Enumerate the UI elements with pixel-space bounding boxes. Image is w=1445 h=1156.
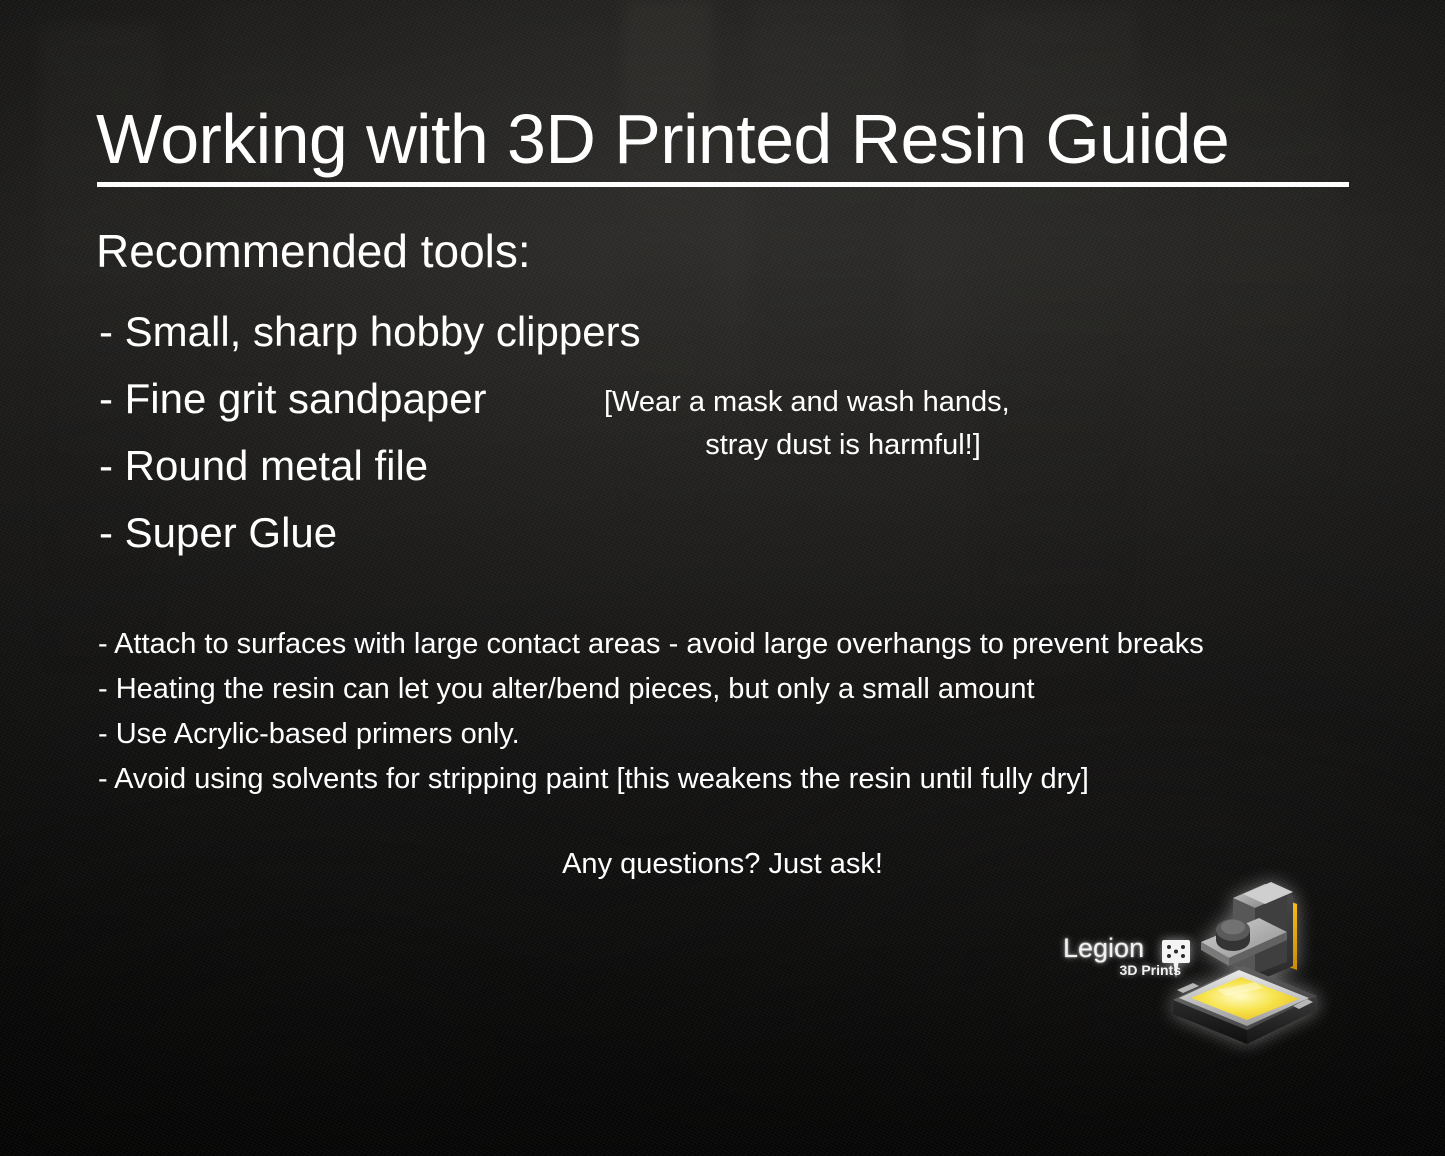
legion-3d-prints-logo: Legion 3D Prints [1055, 878, 1345, 1048]
safety-note-line-2: stray dust is harmful!] [604, 424, 1082, 467]
slide-canvas: Working with 3D Printed Resin Guide Reco… [0, 0, 1445, 1156]
list-item: - Use Acrylic-based primers only. [98, 712, 1204, 757]
list-item: - Super Glue [99, 499, 641, 566]
safety-note-line-1: [Wear a mask and wash hands, [604, 381, 1082, 424]
closing-question: Any questions? Just ask! [0, 848, 1445, 881]
list-item: - Round metal file [99, 432, 641, 499]
list-item: - Avoid using solvents for stripping pai… [98, 757, 1204, 802]
list-item: - Fine grit sandpaper [99, 365, 641, 432]
list-item: - Heating the resin can let you alter/be… [98, 667, 1204, 712]
title-underline [97, 182, 1349, 187]
tips-list: - Attach to surfaces with large contact … [98, 622, 1204, 802]
recommended-tools-list: - Small, sharp hobby clippers - Fine gri… [99, 298, 641, 566]
tools-heading: Recommended tools: [96, 228, 531, 274]
list-item: - Small, sharp hobby clippers [99, 298, 641, 365]
slide-content: Working with 3D Printed Resin Guide Reco… [0, 0, 1445, 1156]
list-item: - Attach to surfaces with large contact … [98, 622, 1204, 667]
resin-3d-printer-illustration [1147, 878, 1343, 1046]
safety-note: [Wear a mask and wash hands, stray dust … [604, 381, 1082, 467]
page-title: Working with 3D Printed Resin Guide [96, 104, 1229, 174]
